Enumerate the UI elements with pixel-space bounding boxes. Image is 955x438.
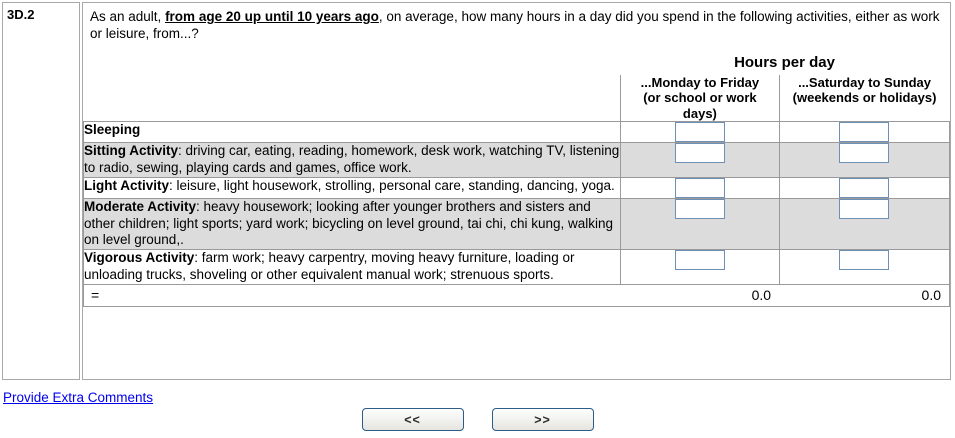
input-vigorous-saturday-sunday[interactable] (839, 250, 889, 270)
total-monday-friday: 0.0 (621, 285, 779, 307)
table-row: Sitting Activity: driving car, eating, r… (84, 142, 950, 177)
activity-detail: : leisure, light housework, strolling, p… (169, 178, 615, 193)
total-saturday-sunday: 0.0 (779, 285, 949, 307)
activity-label-light: Light Activity: leisure, light housework… (84, 177, 621, 198)
cell-sleeping-saturday-sunday (779, 121, 949, 142)
header-monday-friday-line1: ...Monday to Friday (621, 75, 778, 90)
input-sleeping-saturday-sunday[interactable] (839, 122, 889, 142)
previous-button[interactable]: << (362, 408, 464, 431)
header-saturday-sunday-line2: (weekends or holidays) (780, 90, 950, 105)
header-saturday-sunday: ...Saturday to Sunday (weekends or holid… (779, 75, 949, 121)
cell-light-monday-friday (621, 177, 779, 198)
header-saturday-sunday-line1: ...Saturday to Sunday (780, 75, 950, 90)
header-activity-blank (84, 75, 621, 121)
cell-moderate-monday-friday (621, 198, 779, 250)
prompt-emphasis: from age 20 up until 10 years ago (165, 9, 379, 24)
activity-title: Sleeping (84, 122, 140, 137)
hours-per-day-title: Hours per day (619, 46, 950, 75)
activity-label-sleeping: Sleeping (84, 121, 621, 142)
input-sitting-monday-friday[interactable] (675, 143, 725, 163)
totals-row: = 0.0 0.0 (84, 285, 950, 307)
table-row: Vigorous Activity: farm work; heavy carp… (84, 250, 950, 285)
input-light-monday-friday[interactable] (675, 178, 725, 198)
input-sleeping-monday-friday[interactable] (675, 122, 725, 142)
header-monday-friday-line3: days) (621, 106, 778, 121)
question-id-cell: 3D.2 (2, 2, 80, 380)
header-monday-friday: ...Monday to Friday (or school or work d… (621, 75, 779, 121)
prompt-text-before: As an adult, (90, 9, 165, 24)
provide-extra-comments-link[interactable]: Provide Extra Comments (3, 390, 153, 405)
navigation-bar: << >> (0, 408, 955, 431)
activity-hours-table: ...Monday to Friday (or school or work d… (83, 75, 950, 307)
activity-label-moderate: Moderate Activity: heavy housework; look… (84, 198, 621, 250)
question-block: 3D.2 As an adult, from age 20 up until 1… (2, 2, 951, 380)
next-button[interactable]: >> (492, 408, 594, 431)
cell-vigorous-monday-friday (621, 250, 779, 285)
activity-label-sitting: Sitting Activity: driving car, eating, r… (84, 142, 621, 177)
cell-vigorous-saturday-sunday (779, 250, 949, 285)
hours-per-day-header-row: Hours per day (83, 46, 950, 75)
input-sitting-saturday-sunday[interactable] (839, 143, 889, 163)
column-header-row: ...Monday to Friday (or school or work d… (84, 75, 950, 121)
table-row: Sleeping (84, 121, 950, 142)
cell-moderate-saturday-sunday (779, 198, 949, 250)
question-prompt: As an adult, from age 20 up until 10 yea… (83, 3, 950, 46)
cell-sitting-saturday-sunday (779, 142, 949, 177)
input-light-saturday-sunday[interactable] (839, 178, 889, 198)
table-row: Light Activity: leisure, light housework… (84, 177, 950, 198)
cell-sleeping-monday-friday (621, 121, 779, 142)
question-id: 3D.2 (7, 7, 34, 22)
activity-title: Moderate Activity (84, 199, 196, 214)
cell-sitting-monday-friday (621, 142, 779, 177)
header-monday-friday-line2: (or school or work (621, 90, 778, 105)
totals-equals-symbol: = (84, 285, 621, 307)
activity-title: Light Activity (84, 178, 169, 193)
input-moderate-monday-friday[interactable] (675, 199, 725, 219)
question-body: As an adult, from age 20 up until 10 yea… (82, 2, 951, 380)
cell-light-saturday-sunday (779, 177, 949, 198)
header-spacer (83, 46, 619, 75)
input-moderate-saturday-sunday[interactable] (839, 199, 889, 219)
activity-title: Vigorous Activity (84, 250, 194, 265)
table-row: Moderate Activity: heavy housework; look… (84, 198, 950, 250)
activity-title: Sitting Activity (84, 143, 178, 158)
input-vigorous-monday-friday[interactable] (675, 250, 725, 270)
activity-label-vigorous: Vigorous Activity: farm work; heavy carp… (84, 250, 621, 285)
